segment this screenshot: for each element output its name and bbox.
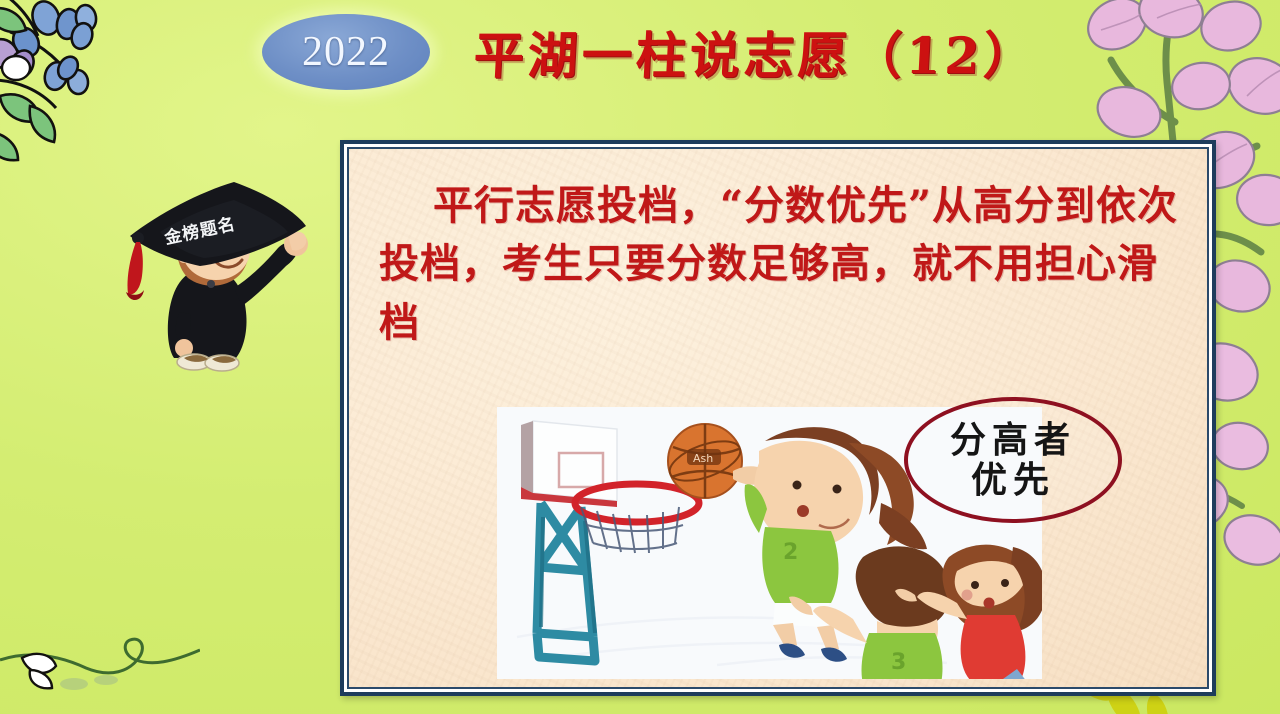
slide-canvas: 2022 平湖一柱说志愿（12） [0, 0, 1280, 714]
graduate-boy-mascot: 金榜题名 [104, 162, 324, 372]
year-badge: 2022 [262, 14, 430, 90]
emphasis-line-2: 优先 [971, 460, 1055, 500]
page-title: 平湖一柱说志愿（12） [472, 16, 1039, 88]
ball-label: Ash [693, 452, 713, 465]
emphasis-line-1: 分高者 [950, 420, 1076, 460]
card-inner-border: 平行志愿投档，“分数优先”从高分到依次投档，考生只要分数足够高，就不用担心滑档 [344, 144, 1212, 692]
blue-flower-corner-decoration [0, 0, 166, 174]
year-badge-label: 2022 [302, 28, 390, 76]
card-surface: 平行志愿投档，“分数优先”从高分到依次投档，考生只要分数足够高，就不用担心滑档 [347, 147, 1209, 689]
emphasis-oval: 分高者 优先 [904, 397, 1122, 523]
body-text: 平行志愿投档，“分数优先”从高分到依次投档，考生只要分数足够高，就不用担心滑档 [379, 182, 1178, 346]
jersey-number-two: 2 [783, 540, 798, 565]
vine-leaf-decoration-bottom-left [0, 616, 200, 696]
card-body-text: 平行志愿投档，“分数优先”从高分到依次投档，考生只要分数足够高，就不用担心滑档 [379, 177, 1183, 352]
jersey-number-three: 3 [891, 650, 906, 675]
content-card: 平行志愿投档，“分数优先”从高分到依次投档，考生只要分数足够高，就不用担心滑档 [340, 140, 1216, 696]
